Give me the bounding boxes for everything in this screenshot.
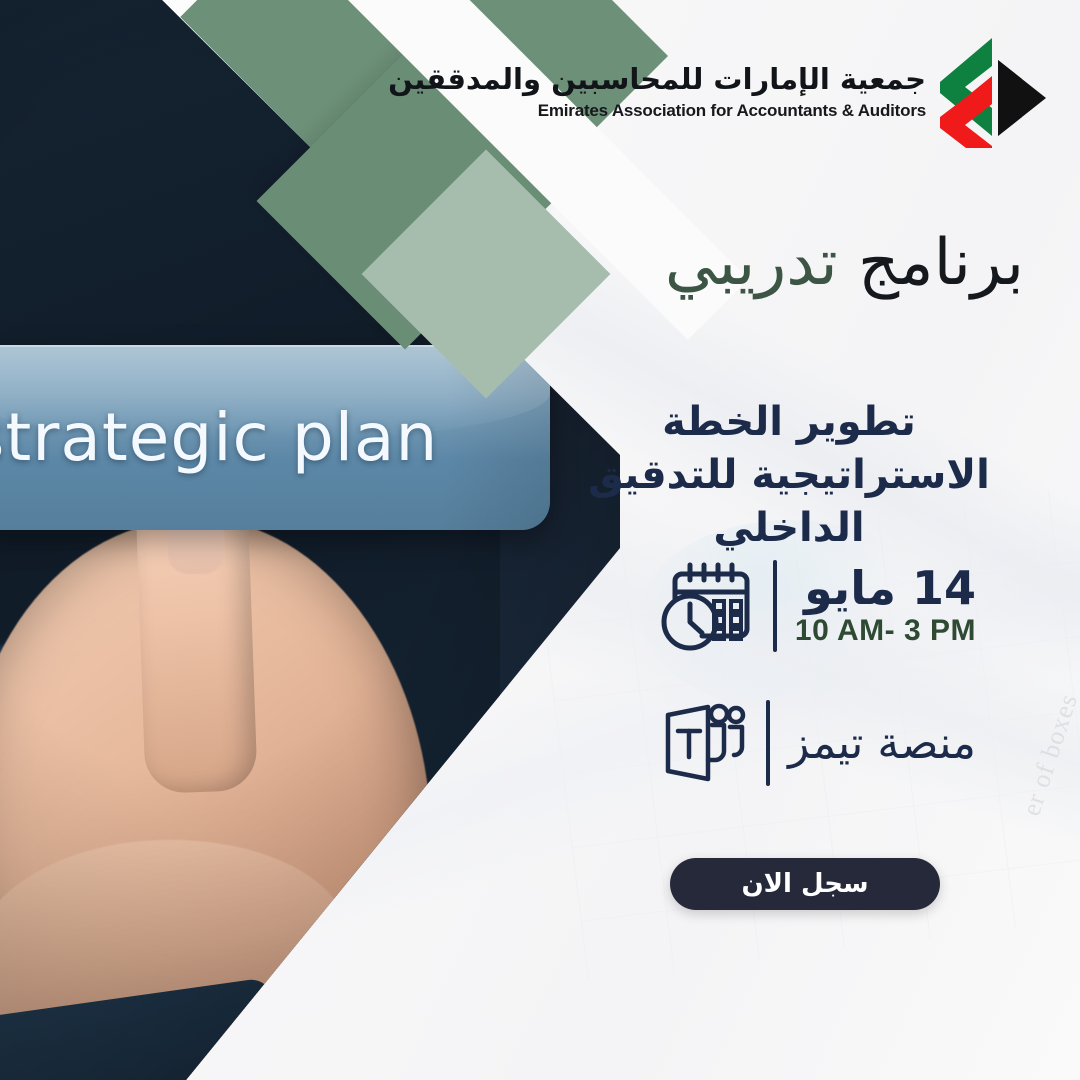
event-date: 14 مايو <box>795 564 976 613</box>
brand-logo-text: جمعية الإمارات للمحاسبين والمدققين Emira… <box>388 63 926 121</box>
poster-canvas: er of boxes strategic plan جمعية الإمارا… <box>0 0 1080 1080</box>
date-text-block: 14 مايو 10 AM- 3 PM <box>795 564 976 649</box>
platform-separator <box>766 700 770 786</box>
register-button[interactable]: سجل الان <box>670 858 940 910</box>
microsoft-teams-icon <box>656 701 748 785</box>
strategic-plan-button-label: strategic plan <box>0 399 438 476</box>
kicker-part-1: برنامج <box>838 226 1024 300</box>
kicker-part-2: تدريبي <box>665 226 838 300</box>
platform-label: منصة تيمز <box>788 718 976 769</box>
brand-name-english: Emirates Association for Accountants & A… <box>388 101 926 121</box>
brand-logo: جمعية الإمارات للمحاسبين والمدققين Emira… <box>388 36 1046 148</box>
date-info-row: 14 مايو 10 AM- 3 PM <box>659 560 976 652</box>
program-title: تطوير الخطة الاستراتيجية للتدقيق الداخلي <box>554 396 1024 554</box>
brand-name-arabic: جمعية الإمارات للمحاسبين والمدققين <box>388 63 926 96</box>
chevron-arrow-logo-icon <box>940 36 1046 148</box>
calendar-clock-icon <box>659 560 755 652</box>
date-separator <box>773 560 777 652</box>
platform-info-row: منصة تيمز <box>656 700 976 786</box>
program-kicker: برنامج تدريبي <box>665 228 1024 298</box>
event-time: 10 AM- 3 PM <box>795 614 976 648</box>
